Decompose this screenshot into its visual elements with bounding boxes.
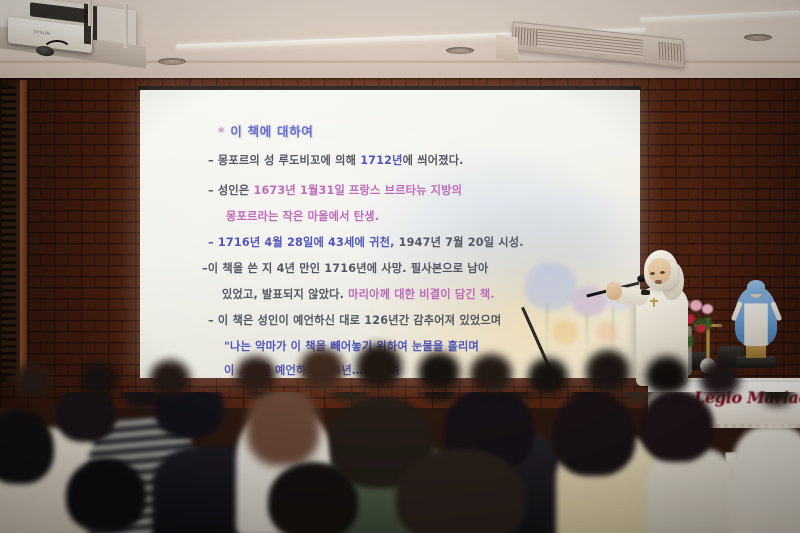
slide-line-4b: 있었고, 발표되지 않았다. 마리아께 대한 비결이 담긴 책. [222,286,495,302]
rose-bloom [690,300,702,311]
slide-line-3: – 1716년 4월 28일에 43세에 귀천, 1947년 7월 20일 시성… [208,234,524,250]
slide-line-4b-highlight: 마리아께 대한 비결이 담긴 책. [348,288,495,301]
projector-support-post-2 [124,4,128,48]
audience-head [646,356,688,394]
downlight-icon [744,34,772,41]
audience-head [700,360,740,396]
slide-title-text: 이 책에 대하여 [230,124,313,139]
audience-head-foreground [0,410,54,484]
slide-line-5: – 이 책은 성인이 예언하신 대로 126년간 감추어져 있었으며 [208,312,501,328]
slide-line-4b-lead: 있었고, 발표되지 않았다. [222,288,348,301]
slide-title: * 이 책에 대하여 [218,121,314,140]
slide-line-3-highlight: – 1716년 4월 28일에 43세에 귀천, [208,236,395,249]
audience-head [300,348,344,388]
audience-head-foreground [552,392,636,476]
audience-head [470,354,512,392]
slide-content: * 이 책에 대하여 – 몽포르의 성 루도비꼬에 의해 1712년에 씌어졌다… [140,90,640,378]
audience-head [420,392,458,402]
audience-foreground [0,392,800,533]
speaker-mouth [655,280,662,284]
audience-head-foreground [640,392,714,462]
projector-support-post [88,0,92,26]
downlight-icon [158,58,186,65]
audience-head [528,358,568,394]
speaker-wristwatch [641,290,650,295]
projector-cable [42,40,72,62]
audience-head [760,392,794,406]
speaker-hand [606,282,622,300]
audience-head [356,344,402,388]
audience-head-foreground [66,458,146,532]
slide-title-asterisk: * [218,124,225,139]
wall-wood-trim [20,80,27,382]
audience-head-foreground [56,392,116,442]
speaker-cross-pendant-arm [650,300,658,302]
audience-head [150,360,190,396]
audience-head-curly [246,392,320,466]
audience-head [14,364,52,398]
slide-line-2b: 몽포르라는 작은 마을에서 탄생. [226,208,379,224]
vent-side-right [659,42,682,62]
speaker-eye [660,271,665,274]
slide-line-4a: –이 책을 쓴 지 4년 만인 1716년에 사망. 필사본으로 남아 [202,260,488,276]
audience-body [730,426,800,533]
statue-veil [747,280,765,294]
vent-louvers [535,29,644,58]
audience-head-foreground [268,462,358,533]
audience-body [646,448,738,533]
slide-line-3-tail: 1947년 7월 20일 시성. [395,236,524,249]
audience-head [80,362,118,396]
rose-bloom [702,304,713,314]
audience-head [586,350,630,392]
vent-corner-trim [496,34,518,61]
lecture-hall-photo: EPSON ✦ ✦ * 이 책에 대하여 – 몽포르의 성 루도비꼬에 의해 1… [0,0,800,533]
audience-head-foreground [154,392,224,438]
projector-cable-bundle-2 [93,6,97,40]
wall-grille [2,86,16,376]
slide-line-2a: – 성인은 1673년 1월31일 프랑스 브르타뉴 지방의 [208,182,462,198]
audience-head [236,356,276,392]
downlight-icon [446,47,474,54]
slide-line-1: – 몽포르의 성 루도비꼬에 의해 1712년에 씌어졌다. [208,152,464,168]
slide-line-2a-highlight: 1673년 1월31일 프랑스 브르타뉴 지방의 [253,184,462,197]
rose-bloom-red [696,324,706,333]
speaker-eye [650,272,655,275]
audience-head [418,352,460,390]
